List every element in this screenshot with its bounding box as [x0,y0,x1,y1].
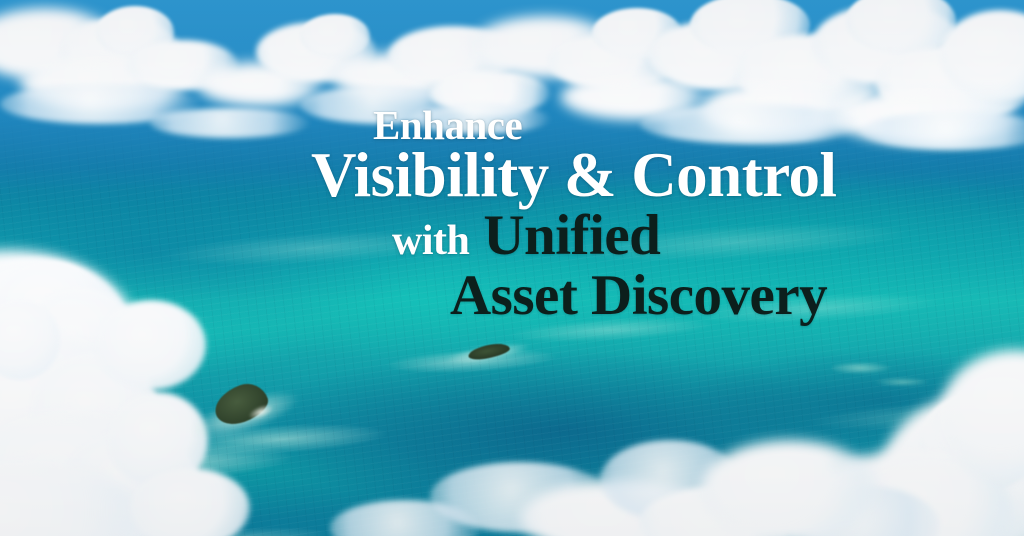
headline-line-with-unified: withUnified [392,208,660,269]
headline-word-unified: Unified [483,204,660,267]
headline-word-with: with [392,218,469,264]
headline-line-asset-discovery: Asset Discovery [450,265,827,327]
hero-banner: Enhance Visibility & Control withUnified… [0,0,1024,536]
headline-block: Enhance Visibility & Control withUnified… [0,0,1024,536]
headline-line-visibility-control: Visibility & Control [311,140,837,210]
